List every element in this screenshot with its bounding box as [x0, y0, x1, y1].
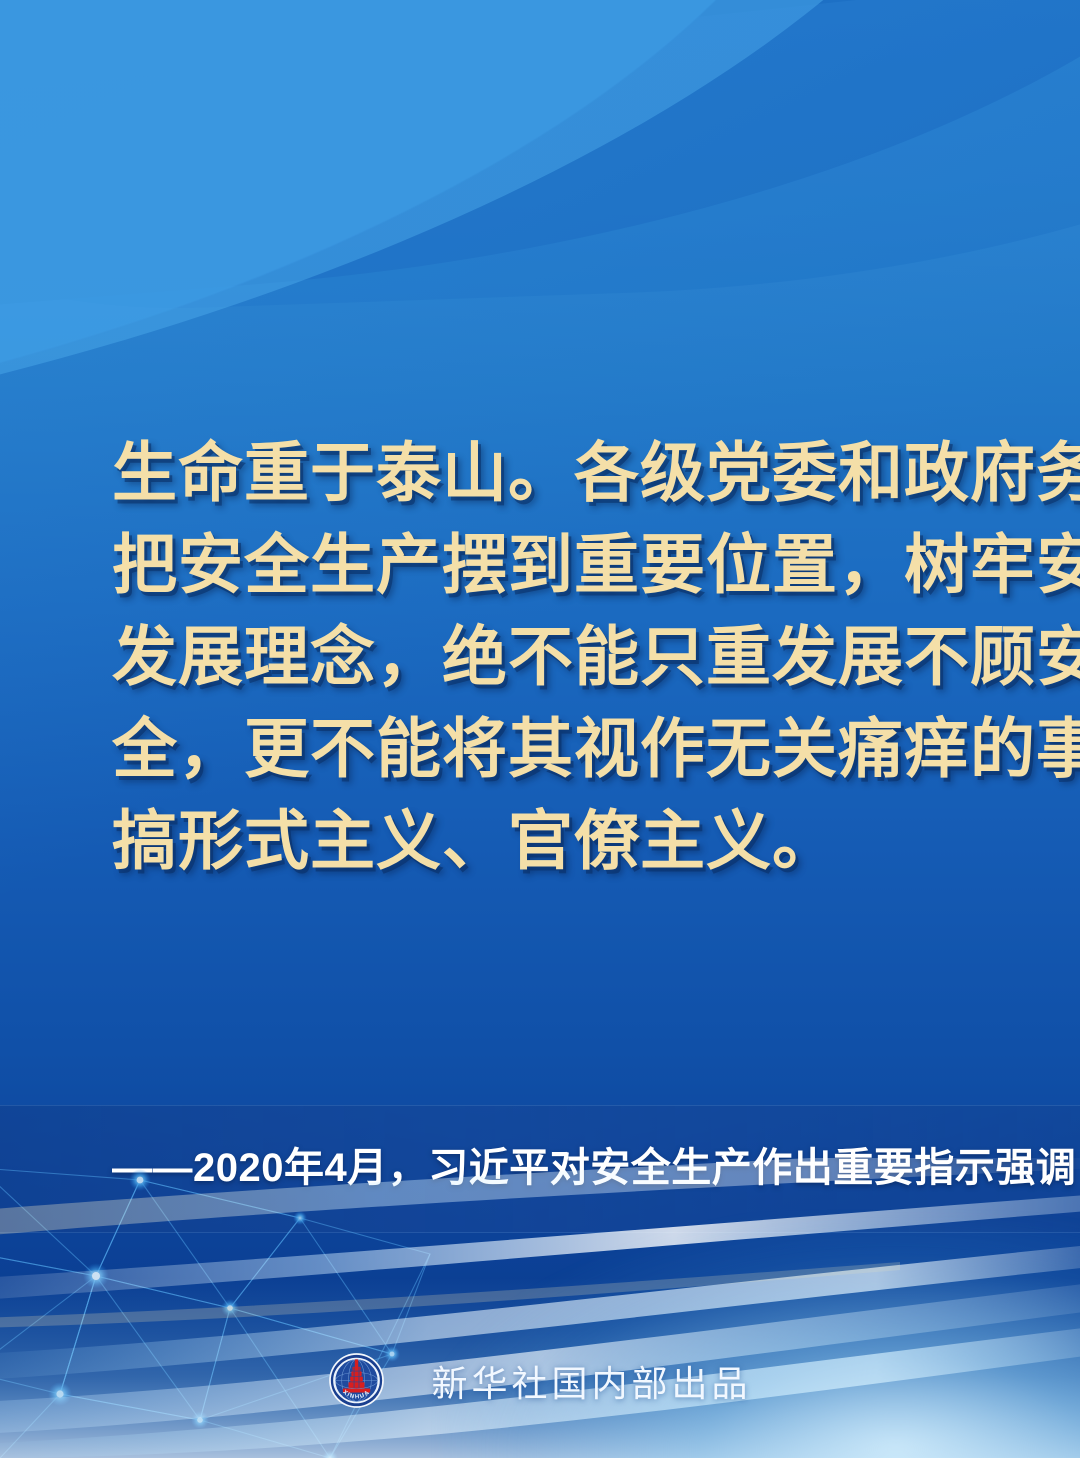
quote-line-4: 全，更不能将其视作无关痛痒的事， [112, 703, 992, 795]
quote-line-5: 搞形式主义、官僚主义。 [112, 795, 992, 887]
swoosh-band-light-inner [0, 0, 946, 424]
bottom-decoration [0, 1158, 1080, 1458]
poster-canvas: 生命重于泰山。各级党委和政府务必 把安全生产摆到重要位置，树牢安全 发展理念，绝… [0, 0, 1080, 1458]
swoosh-band-light-outer [0, 0, 1080, 449]
footer: XINHUA 新华社国内部出品 [0, 1352, 1080, 1409]
quote-line-1: 生命重于泰山。各级党委和政府务必 [112, 427, 992, 519]
xinhua-logo-icon: XINHUA [328, 1352, 385, 1409]
quote-line-2: 把安全生产摆到重要位置，树牢安全 [112, 519, 992, 611]
quote-line-3: 发展理念，绝不能只重发展不顾安 [112, 611, 992, 703]
footer-source-text: 新华社国内部出品 [431, 1355, 751, 1407]
corner-glow [440, 1218, 1080, 1458]
quote-block: 生命重于泰山。各级党委和政府务必 把安全生产摆到重要位置，树牢安全 发展理念，绝… [112, 427, 992, 887]
swoosh-band-mid [0, 0, 1080, 319]
swoosh-band-dark-upper [0, 0, 1080, 322]
